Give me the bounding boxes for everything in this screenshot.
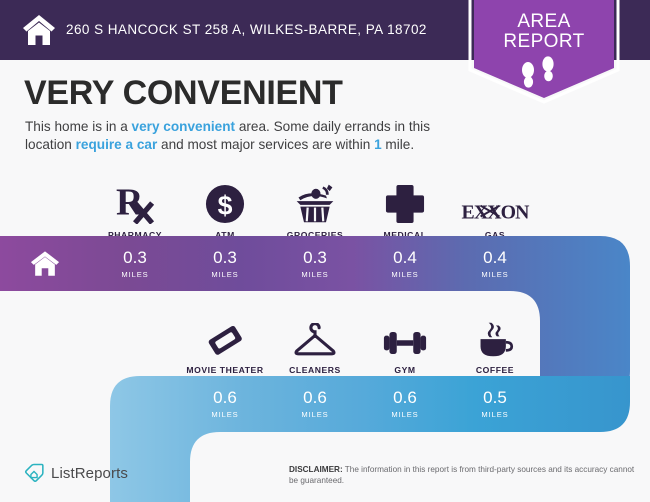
icon-cell-coffee: COFFEE	[450, 315, 540, 375]
svg-text:$: $	[218, 190, 233, 220]
home-icon	[30, 250, 60, 277]
distance-segment-gas: 0.4 MILES	[450, 236, 540, 291]
row1-icons: R PHARMACY $ ATM	[0, 180, 650, 238]
distance-unit-movie-theater: MILES	[180, 406, 270, 419]
svg-text:EXXON: EXXON	[462, 201, 531, 223]
icon-cell-atm: $ ATM	[180, 180, 270, 240]
icon-label-coffee: COFFEE	[450, 365, 540, 375]
icon-cell-groceries: GROCERIES	[270, 180, 360, 240]
row2-icons: MOVIE THEATER CLEANERS	[0, 315, 650, 373]
distance-unit-cleaners: MILES	[270, 406, 360, 419]
distance-value-medical: 0.4	[360, 236, 450, 266]
distance-segment-coffee: 0.5 MILES	[450, 376, 540, 431]
listreports-logo-text: ListReports	[51, 465, 128, 482]
distance-unit-coffee: MILES	[450, 406, 540, 419]
description-text: This home is in a very convenient area. …	[25, 118, 475, 154]
icon-label-gym: GYM	[360, 365, 450, 375]
distance-segment-cleaners: 0.6 MILES	[270, 376, 360, 431]
distance-value-atm: 0.3	[180, 236, 270, 266]
page-title: VERY CONVENIENT	[24, 74, 343, 113]
disclaimer: DISCLAIMER: The information in this repo…	[289, 464, 635, 486]
distance-value-coffee: 0.5	[450, 376, 540, 406]
home-segment	[0, 236, 90, 291]
desc-highlight-3: 1	[374, 137, 382, 152]
home-icon	[22, 14, 56, 46]
distance-unit-pharmacy: MILES	[90, 266, 180, 279]
icon-label-cleaners: CLEANERS	[270, 365, 360, 375]
property-address: 260 S HANCOCK ST 258 A, WILKES-BARRE, PA…	[66, 22, 427, 37]
listreports-pin-icon	[24, 463, 44, 483]
desc-part-3: and most major services are within	[157, 137, 374, 152]
distance-value-gas: 0.4	[450, 236, 540, 266]
distance-segment-pharmacy: 0.3 MILES	[90, 236, 180, 291]
medical-cross-icon	[360, 180, 450, 224]
distance-segment-groceries: 0.3 MILES	[270, 236, 360, 291]
distance-segment-atm: 0.3 MILES	[180, 236, 270, 291]
desc-part-1: This home is in a	[25, 119, 132, 134]
badge-label: AREA REPORT	[466, 12, 622, 52]
distance-value-groceries: 0.3	[270, 236, 360, 266]
area-report-infographic: 260 S HANCOCK ST 258 A, WILKES-BARRE, PA…	[0, 0, 650, 502]
area-report-badge: AREA REPORT	[466, 0, 622, 106]
distance-unit-gas: MILES	[450, 266, 540, 279]
hanger-icon	[270, 315, 360, 359]
distance-segment-movie-theater: 0.6 MILES	[180, 376, 270, 431]
icon-cell-pharmacy: R PHARMACY	[90, 180, 180, 240]
distance-segment-gym: 0.6 MILES	[360, 376, 450, 431]
dumbbell-icon	[360, 315, 450, 359]
exxon-logo-icon: EXXON	[450, 180, 540, 224]
distance-value-pharmacy: 0.3	[90, 236, 180, 266]
desc-highlight-2: require a car	[76, 137, 158, 152]
desc-highlight-1: very convenient	[132, 119, 236, 134]
icon-cell-medical: MEDICAL	[360, 180, 450, 240]
grocery-basket-icon	[270, 180, 360, 224]
distance-unit-groceries: MILES	[270, 266, 360, 279]
desc-part-4: mile.	[382, 137, 414, 152]
icon-cell-cleaners: CLEANERS	[270, 315, 360, 375]
coffee-cup-icon	[450, 315, 540, 359]
icon-cell-gym: GYM	[360, 315, 450, 375]
distance-value-cleaners: 0.6	[270, 376, 360, 406]
distance-value-movie-theater: 0.6	[180, 376, 270, 406]
icon-cell-gas: EXXON GAS	[450, 180, 540, 240]
icon-cell-movie-theater: MOVIE THEATER	[180, 315, 270, 375]
rx-icon: R	[90, 180, 180, 224]
ticket-icon	[180, 315, 270, 359]
listreports-logo: ListReports	[24, 463, 128, 483]
distance-value-gym: 0.6	[360, 376, 450, 406]
disclaimer-label: DISCLAIMER:	[289, 465, 343, 474]
dollar-circle-icon: $	[180, 180, 270, 224]
badge-line-1: AREA	[466, 12, 622, 32]
distance-unit-gym: MILES	[360, 406, 450, 419]
distance-unit-medical: MILES	[360, 266, 450, 279]
badge-line-2: REPORT	[466, 32, 622, 52]
icon-label-movie-theater: MOVIE THEATER	[180, 365, 270, 375]
distance-unit-atm: MILES	[180, 266, 270, 279]
distance-segment-medical: 0.4 MILES	[360, 236, 450, 291]
